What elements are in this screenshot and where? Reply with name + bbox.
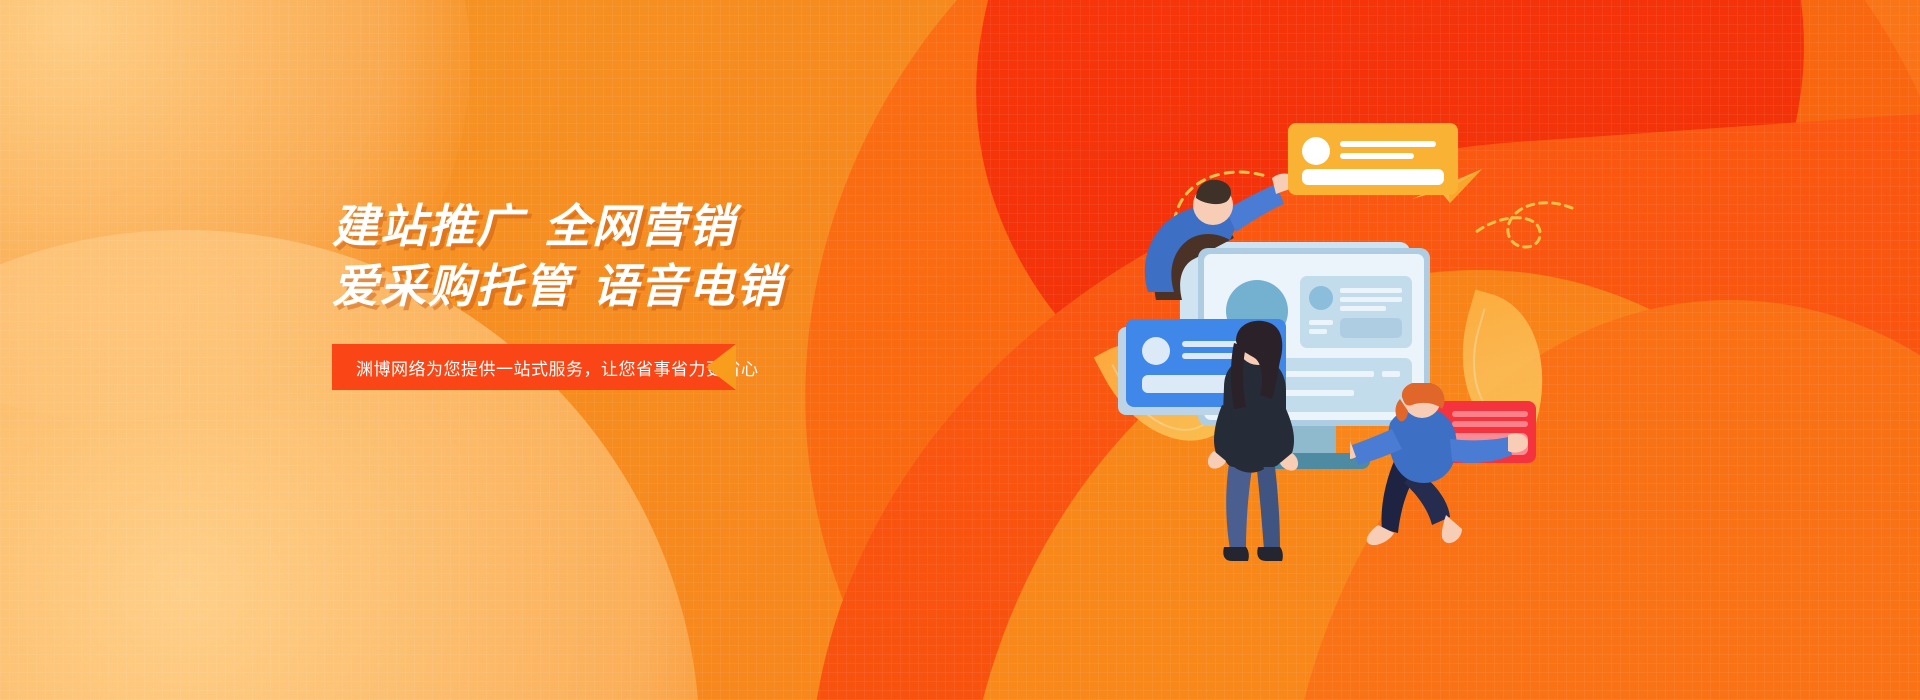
card-input-bar: [1302, 169, 1444, 185]
ribbon-arrow-notch: [706, 344, 736, 390]
headline-line-2: 爱采购托管语音电销: [332, 256, 892, 316]
headline-block: 建站推广全网营销 爱采购托管语音电销 渊博网络为您提供一站式服务，让您省事省力更…: [332, 196, 892, 390]
headline-line-2-part-2: 语音电销: [592, 260, 784, 312]
panel-line: [1382, 371, 1400, 377]
person-sitting-icon: [1350, 383, 1540, 568]
tagline-ribbon: 渊博网络为您提供一站式服务，让您省事省力更省心: [332, 344, 736, 390]
panel-line: [1340, 306, 1386, 311]
hero-illustration: [1120, 105, 1540, 565]
panel-line: [1340, 297, 1402, 302]
panel-line: [1340, 288, 1402, 293]
panel-box: [1340, 318, 1402, 338]
card-line: [1340, 141, 1436, 147]
headline-line-2-part-1: 爱采购托管: [332, 260, 572, 312]
screen-panel-profile: [1300, 276, 1412, 348]
card-avatar: [1302, 137, 1330, 165]
yellow-profile-card: [1288, 123, 1458, 195]
person-standing-icon: [1200, 317, 1310, 567]
headline-line-1-part-1: 建站推广: [332, 200, 524, 252]
headline-line-1-part-2: 全网营销: [544, 200, 736, 252]
promo-banner: 建站推广全网营销 爱采购托管语音电销 渊博网络为您提供一站式服务，让您省事省力更…: [0, 0, 1920, 700]
card-line: [1340, 153, 1414, 159]
headline-line-1: 建站推广全网营销: [332, 196, 892, 256]
card-avatar: [1142, 337, 1170, 365]
background-grid-texture: [0, 0, 1920, 700]
tagline-text: 渊博网络为您提供一站式服务，让您省事省力更省心: [356, 355, 759, 380]
panel-line: [1309, 320, 1333, 325]
panel-avatar: [1309, 286, 1333, 310]
panel-line: [1309, 329, 1327, 334]
